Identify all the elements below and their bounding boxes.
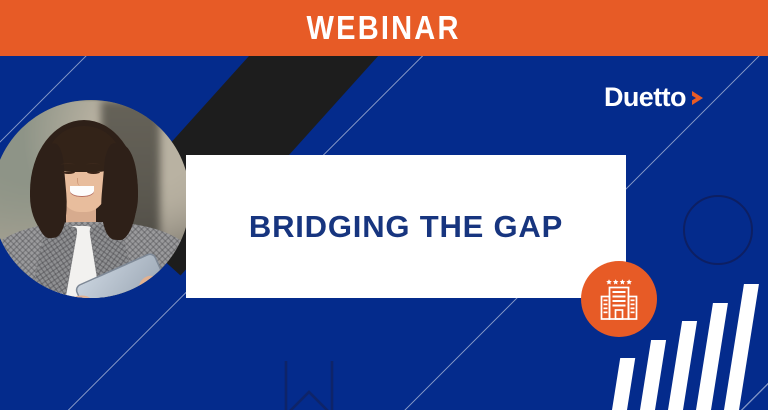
smile <box>70 186 94 197</box>
duetto-wordmark: Duetto <box>604 84 686 111</box>
hotel-building-icon <box>596 276 642 322</box>
circle-outline-icon <box>683 195 753 265</box>
duetto-logo[interactable]: Duetto <box>604 84 710 111</box>
speaker-photo <box>0 100 190 298</box>
eyebrow-left <box>61 163 75 167</box>
eye-right <box>87 170 100 174</box>
eyebrow-right <box>86 163 100 167</box>
bookmark-icon <box>283 359 335 410</box>
eye-left <box>62 170 75 174</box>
nose <box>77 178 83 186</box>
chevron-right-icon <box>688 87 710 109</box>
title-card: BRIDGING THE GAP <box>186 155 626 298</box>
webinar-banner: WEBINAR <box>0 0 768 56</box>
webinar-promo-graphic: WEBINAR <box>0 0 768 410</box>
hotel-badge <box>581 261 657 337</box>
webinar-banner-label: WEBINAR <box>307 9 461 47</box>
page-title: BRIDGING THE GAP <box>249 209 563 245</box>
